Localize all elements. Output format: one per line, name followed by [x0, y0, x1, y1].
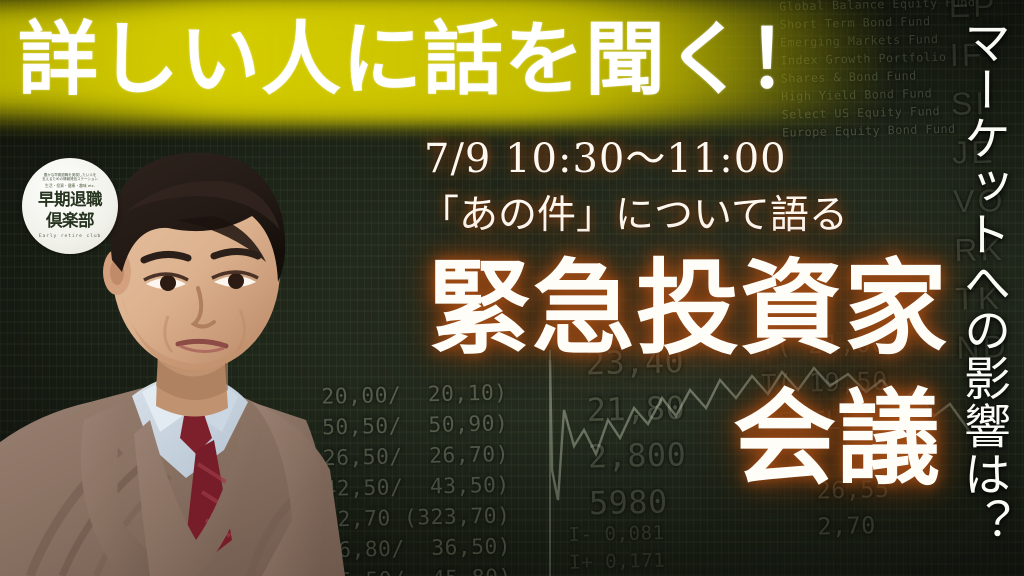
- badge-tagline-line2: 支えるための情報発信ステーション: [42, 177, 98, 182]
- early-retire-club-badge[interactable]: 豊かな早期退職を実現したい人を 支えるための情報発信ステーション 生活・投資・健…: [22, 158, 118, 254]
- schedule-datetime: 7/9 10:30〜11:00: [424, 139, 787, 179]
- badge-tagline-line3: 生活・投資・健康・趣味 etc.: [45, 183, 95, 188]
- side-question-vertical-text: マーケットへの影響は？: [952, 18, 1010, 546]
- main-title-line1: 緊急投資家: [428, 258, 948, 361]
- badge-name-line1: 早期退職: [38, 191, 102, 209]
- headline-text: 詳しい人に話を聞く！: [18, 8, 878, 112]
- schedule-subtitle: 「あの件」について語る: [420, 196, 848, 235]
- main-title-line2: 会議: [733, 388, 941, 491]
- thumbnail-canvas: 20,00/ 20,10) 50,50/ 50,90) 26,50/ 26,70…: [0, 0, 1024, 576]
- badge-name-english: Early retire club: [39, 233, 101, 240]
- badge-name-line2: 倶楽部: [46, 212, 94, 230]
